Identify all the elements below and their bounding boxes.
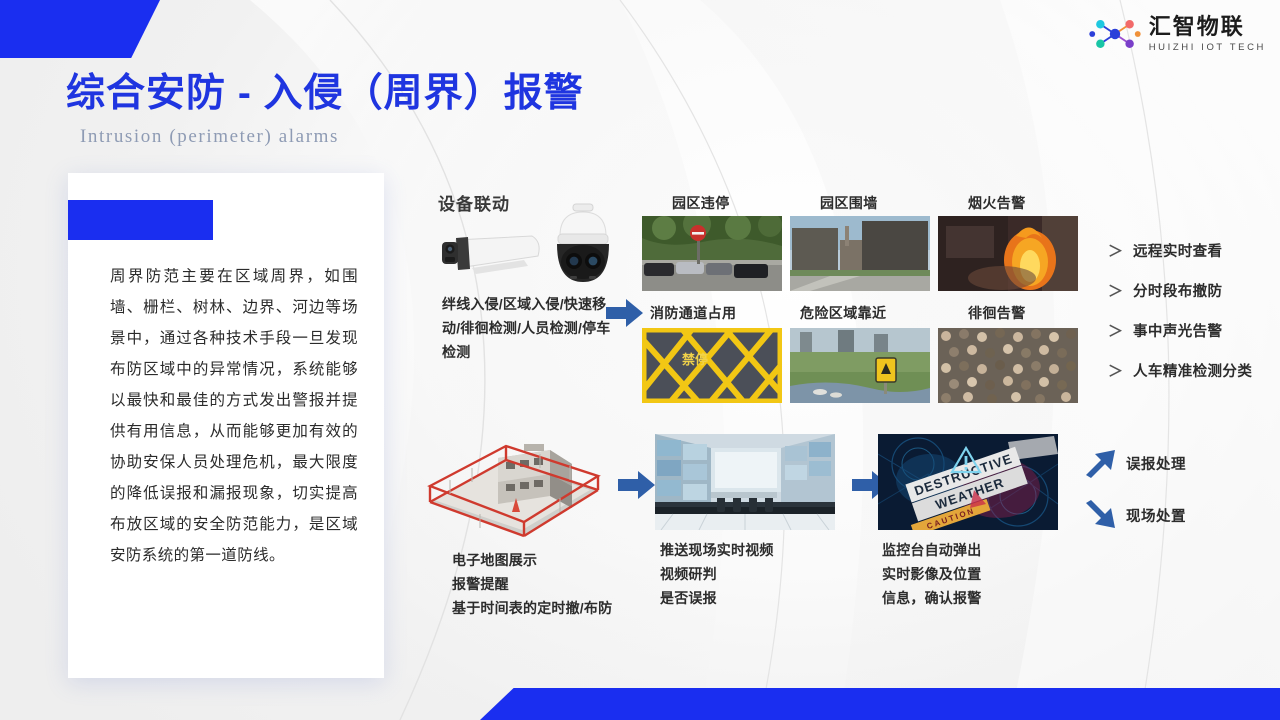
logo-english-name: HUIZHI IOT TECH [1149, 43, 1266, 53]
bullet-label-0: 远程实时查看 [1133, 240, 1222, 261]
right-arrow-icon [618, 470, 656, 500]
right-arrow-icon [606, 298, 644, 328]
up-right-arrow-icon [1084, 448, 1118, 478]
molecule-network-icon [1089, 14, 1141, 54]
card-accent-badge [68, 200, 213, 240]
chevron-right-icon: ＞ [1108, 240, 1123, 261]
bullet-label-3: 人车精准检测分类 [1133, 360, 1252, 381]
flow-image-0[interactable] [420, 424, 610, 544]
bullet-label-1: 分时段布撤防 [1133, 280, 1222, 301]
card-body-text: 周界防范主要在区域周界，如围墙、栅栏、树林、边界、河边等场景中，通过各种技术手段… [110, 261, 358, 571]
outcome-label-0: 误报处理 [1126, 453, 1186, 474]
devices-section-title: 设备联动 [438, 190, 510, 215]
bullet-item-1[interactable]: ＞ 分时段布撤防 [1108, 280, 1222, 301]
logo-chinese-name: 汇智物联 [1149, 16, 1266, 38]
thumbnail-image-2[interactable] [938, 216, 1078, 291]
flow-caption-2: 监控台自动弹出 实时影像及位置 信息，确认报警 [882, 538, 981, 610]
flow-caption-1: 推送现场实时视频 视频研判 是否误报 [660, 538, 774, 610]
page-title: 综合安防 - 入侵（周界）报警 [66, 62, 584, 118]
bullet-item-0[interactable]: ＞ 远程实时查看 [1108, 240, 1222, 261]
chevron-right-icon: ＞ [1108, 320, 1123, 341]
thumb-label-2: 烟火告警 [968, 193, 1026, 213]
devices-caption: 绊线入侵/区域入侵/快速移动/徘徊检测/人员检测/停车检测 [442, 292, 617, 364]
flow-image-2[interactable]: DESTRUCTIVE WEATHER CAUTION [878, 434, 1058, 530]
down-right-arrow-icon [1084, 500, 1118, 530]
thumb-label-4: 危险区域靠近 [800, 303, 886, 323]
chevron-right-icon: ＞ [1108, 360, 1123, 381]
page-subtitle: Intrusion (perimeter) alarms [80, 126, 339, 148]
brand-logo: 汇智物联 HUIZHI IOT TECH [1089, 14, 1266, 54]
diagram-stage: 设备联动 绊线入侵/区域入侵/快速移动/徘徊检测/人员检测/停车检测 [400, 170, 1280, 670]
outcome-label-1: 现场处置 [1126, 505, 1186, 526]
ptz-dome-camera-icon [540, 200, 626, 296]
top-left-accent-shape [0, 0, 160, 58]
svg-text:禁停: 禁停 [682, 352, 708, 367]
thumb-label-0: 园区违停 [672, 193, 730, 213]
thumbnail-image-0[interactable] [642, 216, 782, 291]
flow-caption-0: 电子地图展示 报警提醒 基于时间表的定时撤/布防 [452, 548, 612, 620]
bullet-label-2: 事中声光告警 [1133, 320, 1222, 341]
thumb-label-3: 消防通道占用 [650, 303, 736, 323]
bullet-item-3[interactable]: ＞ 人车精准检测分类 [1108, 360, 1252, 381]
chevron-right-icon: ＞ [1108, 280, 1123, 301]
flow-image-1[interactable] [655, 434, 835, 530]
description-card: 周界防范主要在区域周界，如围墙、栅栏、树林、边界、河边等场景中，通过各种技术手段… [68, 173, 384, 678]
slide-canvas: 汇智物联 HUIZHI IOT TECH 综合安防 - 入侵（周界）报警 Int… [0, 0, 1280, 720]
thumb-label-5: 徘徊告警 [968, 303, 1026, 323]
bottom-right-accent-band [480, 688, 1280, 720]
thumbnail-image-4[interactable] [790, 328, 930, 403]
thumbnail-image-1[interactable] [790, 216, 930, 291]
bullet-camera-icon [428, 222, 548, 284]
bullet-item-2[interactable]: ＞ 事中声光告警 [1108, 320, 1222, 341]
thumbnail-image-5[interactable] [938, 328, 1078, 403]
thumb-label-1: 园区围墙 [820, 193, 878, 213]
thumbnail-image-3[interactable]: 禁停 [642, 328, 782, 403]
